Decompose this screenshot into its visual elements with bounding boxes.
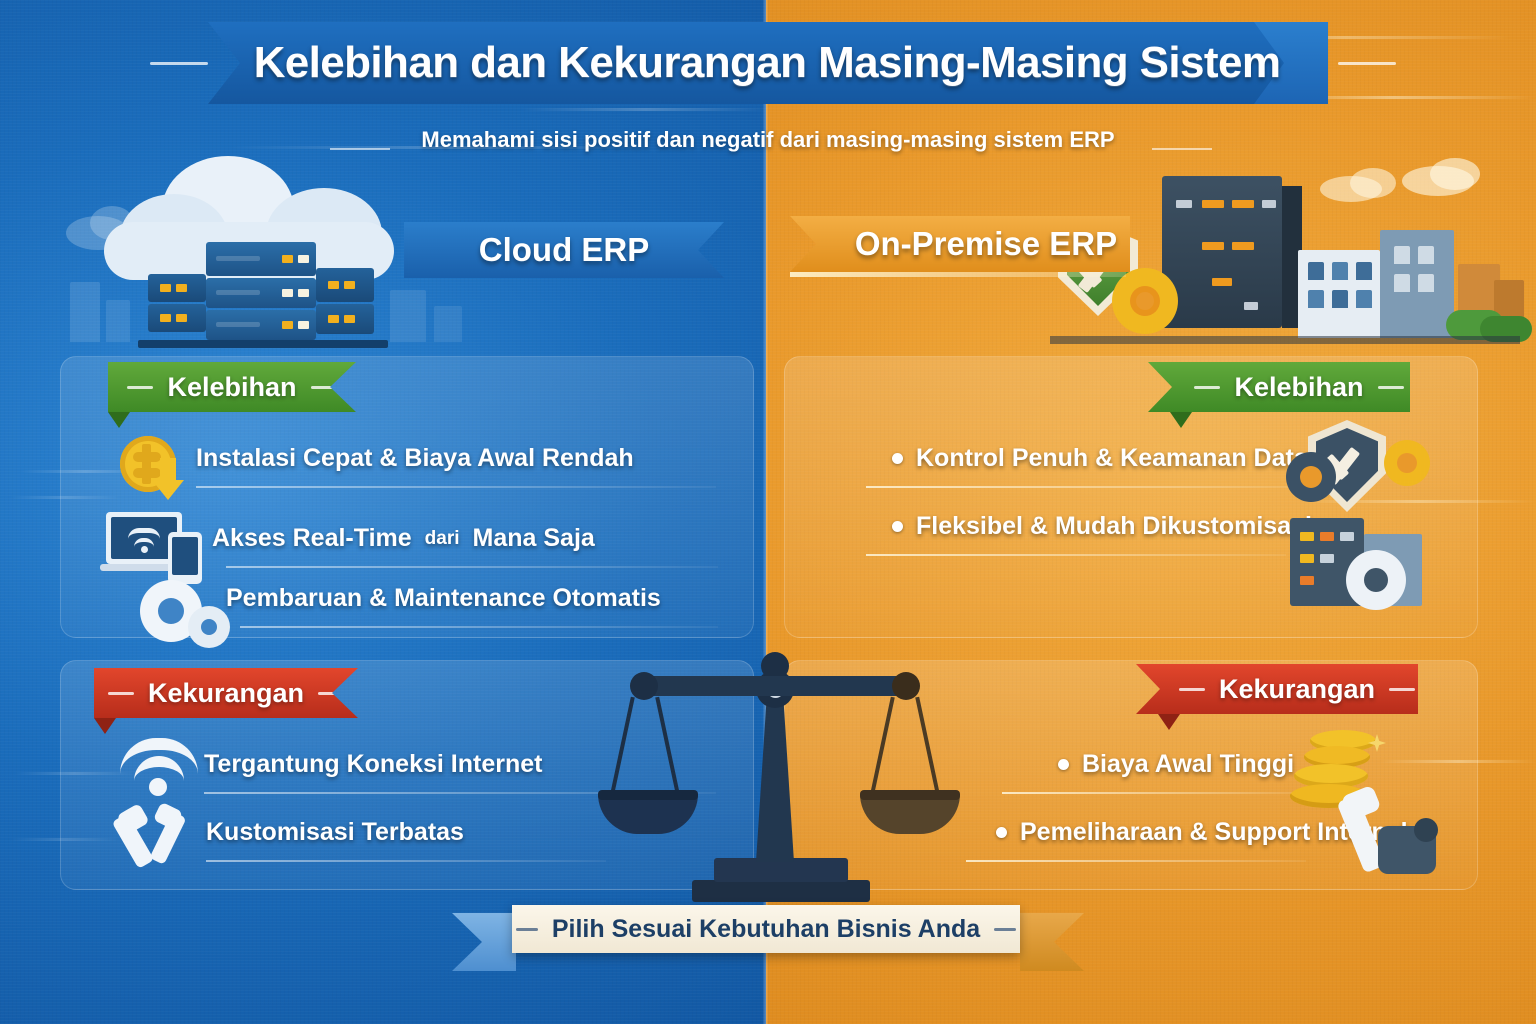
- list-item-cloud-advantage-1: Instalasi Cepat & Biaya Awal Rendah: [196, 444, 634, 473]
- list-item-onpremise-advantage-1: Kontrol Penuh & Keamanan Data: [892, 444, 1308, 473]
- list-item-cloud-advantage-3: Pembaruan & Maintenance Otomatis: [226, 584, 661, 613]
- item-underline: [226, 566, 718, 568]
- footer-dash-left: [516, 928, 538, 931]
- list-item-onpremise-disadvantage-1: Biaya Awal Tinggi: [1058, 750, 1294, 779]
- bullet-dot: [892, 521, 903, 532]
- item-underline: [866, 486, 1306, 488]
- section-header-underline: [790, 272, 1126, 277]
- section-header-onpremise-erp: On-Premise ERP: [790, 216, 1156, 272]
- coin-dollar-down-arrow-icon: [120, 436, 194, 500]
- ribbon-dash-left: [1194, 386, 1220, 389]
- gears-icon: [140, 580, 232, 642]
- ribbon-label: Kelebihan: [1234, 372, 1363, 403]
- list-item-cloud-disadvantage-1: Tergantung Koneksi Internet: [204, 750, 542, 779]
- ribbon-dash-left: [127, 386, 153, 389]
- list-item-label: Pembaruan & Maintenance Otomatis: [226, 584, 661, 613]
- ribbon-onpremise-advantages: Kelebihan: [1148, 362, 1430, 412]
- bullet-dot: [892, 453, 903, 464]
- ribbon-label: Kelebihan: [167, 372, 296, 403]
- title-dash-right: [1338, 62, 1396, 65]
- ribbon-label: Kekurangan: [1219, 674, 1375, 705]
- list-item-label: Akses Real-Time: [212, 524, 412, 553]
- title-dash-left: [150, 62, 208, 65]
- item-underline: [1002, 792, 1302, 794]
- item-underline: [206, 860, 606, 862]
- bullet-dot: [996, 827, 1007, 838]
- page-subtitle: Memahami sisi positif dan negatif dari m…: [0, 127, 1536, 153]
- item-underline: [966, 860, 1306, 862]
- wrench-screwdriver-icon: [116, 806, 202, 872]
- item-underline: [196, 486, 716, 488]
- ribbon-dash-right: [1378, 386, 1404, 389]
- list-item-label: Fleksibel & Mudah Dikustomisasi: [916, 512, 1312, 541]
- wrench-tools-icon: [1318, 790, 1448, 882]
- ribbon-dash-left: [1179, 688, 1205, 691]
- list-item-label: Instalasi Cepat & Biaya Awal Rendah: [196, 444, 634, 473]
- footer-banner: Pilih Sesuai Kebutuhan Bisnis Anda: [512, 905, 1020, 953]
- server-gear-icon: [1276, 510, 1444, 618]
- bullet-dot: [1058, 759, 1069, 770]
- subtitle-dash-right: [1152, 148, 1212, 150]
- list-item-label-tail: Mana Saja: [473, 524, 595, 553]
- item-underline: [240, 626, 718, 628]
- ribbon-dash-right: [1389, 688, 1415, 691]
- infographic-canvas: Kelebihan dan Kekurangan Masing-Masing S…: [0, 0, 1536, 1024]
- footer-label: Pilih Sesuai Kebutuhan Bisnis Anda: [552, 915, 980, 944]
- ribbon-dash-left: [108, 692, 134, 695]
- page-title: Kelebihan dan Kekurangan Masing-Masing S…: [208, 22, 1326, 104]
- ribbon-label: Kekurangan: [148, 678, 304, 709]
- item-underline: [866, 554, 1286, 556]
- accent-line: [520, 108, 770, 111]
- list-item-onpremise-advantage-2: Fleksibel & Mudah Dikustomisasi: [892, 512, 1312, 541]
- ribbon-onpremise-disadvantages: Kekurangan: [1136, 664, 1438, 714]
- footer-dash-right: [994, 928, 1016, 931]
- wifi-icon: [120, 738, 200, 794]
- section-header-cloud-erp: Cloud ERP: [404, 222, 746, 278]
- list-item-label: Kustomisasi Terbatas: [206, 818, 464, 847]
- list-item-label-small: dari: [425, 528, 460, 550]
- list-item-label: Tergantung Koneksi Internet: [204, 750, 542, 779]
- list-item-cloud-disadvantage-2: Kustomisasi Terbatas: [206, 818, 464, 847]
- balance-scales-icon: [604, 652, 954, 910]
- list-item-label: Biaya Awal Tinggi: [1082, 750, 1294, 779]
- laptop-tablet-wifi-icon: [106, 512, 216, 584]
- list-item-cloud-advantage-2: Akses Real-Time dari Mana Saja: [212, 524, 595, 553]
- list-item-label: Kontrol Penuh & Keamanan Data: [916, 444, 1308, 473]
